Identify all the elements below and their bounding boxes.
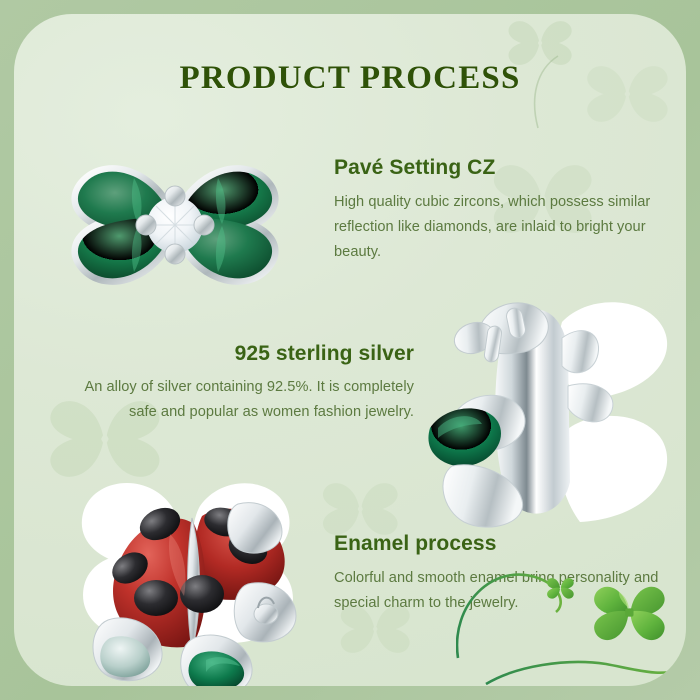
content-panel: PRODUCT PROCESS xyxy=(14,14,686,686)
feature-body-pave: High quality cubic zircons, which posses… xyxy=(334,190,674,265)
product-image-clover-charm xyxy=(38,112,312,344)
feature-block-silver: 925 sterling silver An alloy of silver c… xyxy=(74,342,414,425)
feature-block-pave: Pavé Setting CZ High quality cubic zirco… xyxy=(334,156,674,265)
feature-body-silver: An alloy of silver containing 92.5%. It … xyxy=(74,375,414,425)
page-frame: PRODUCT PROCESS xyxy=(0,0,700,700)
feature-heading-pave: Pavé Setting CZ xyxy=(334,156,674,179)
product-image-ladybug-charm xyxy=(52,462,352,686)
product-image-silver-charm xyxy=(412,282,686,530)
feature-heading-silver: 925 sterling silver xyxy=(74,342,414,365)
page-title: PRODUCT PROCESS xyxy=(14,60,686,97)
corner-clover-decoration xyxy=(456,546,686,686)
